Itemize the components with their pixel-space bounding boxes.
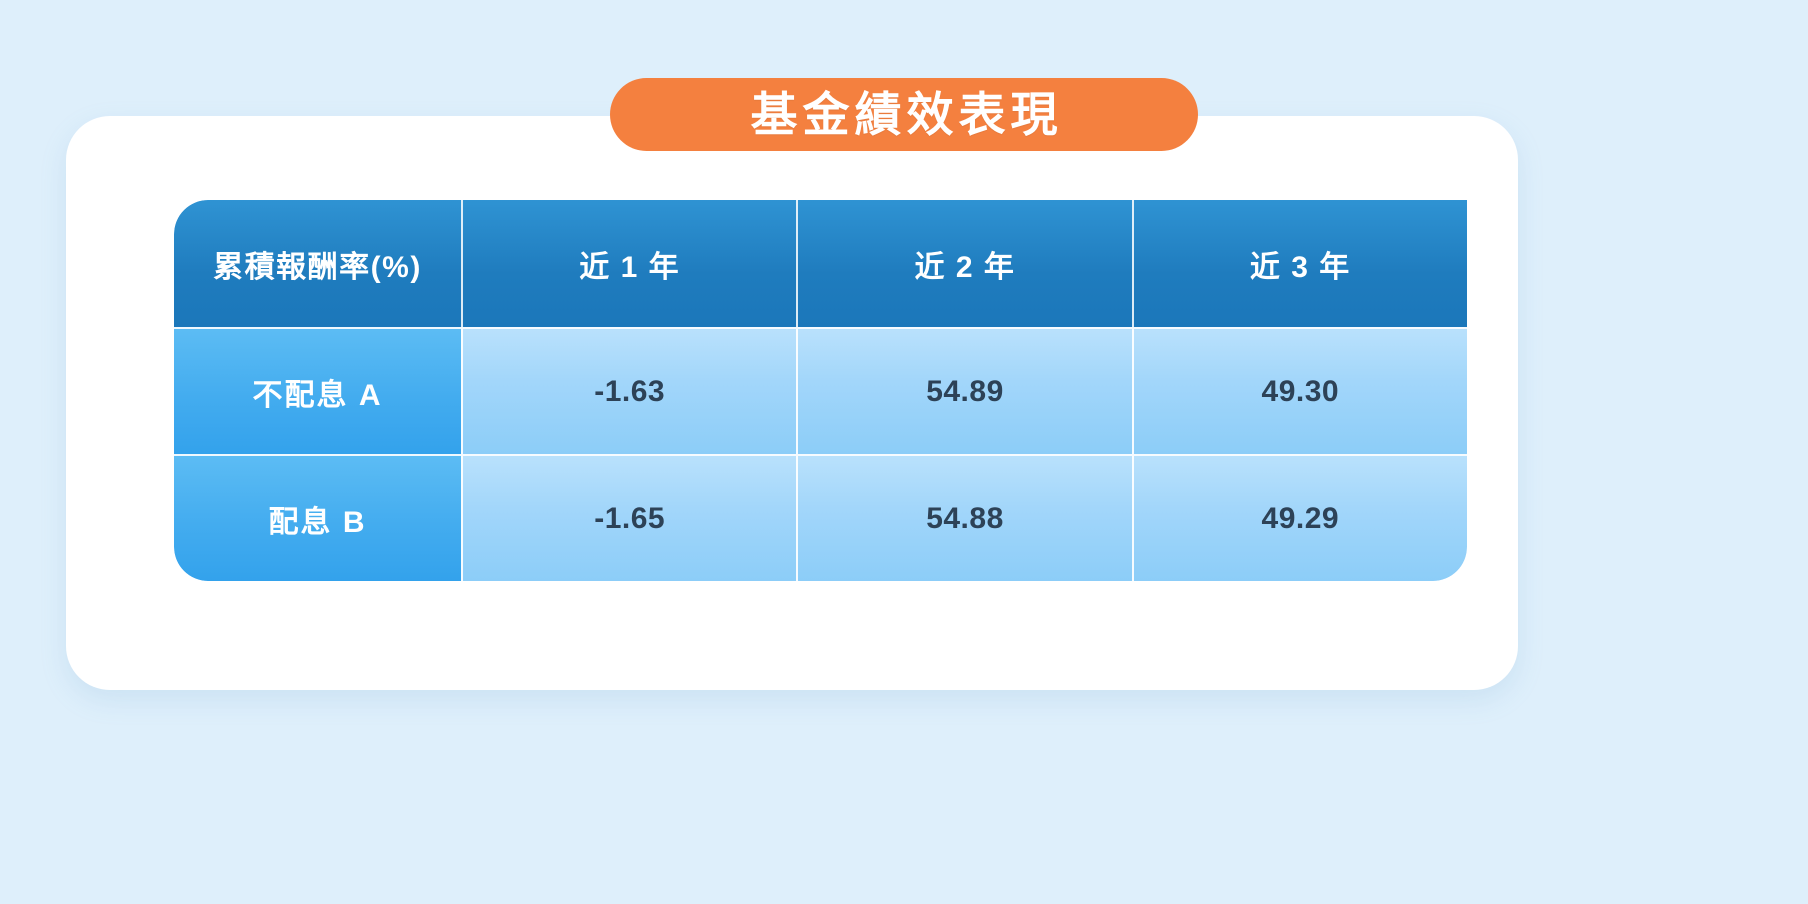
fund-performance-table: 累積報酬率(%) 近 1 年 近 2 年 近 3 年 不配息 A -1.63 5… xyxy=(174,200,1467,581)
column-header-year-2-label: 近 2 年 xyxy=(915,251,1016,284)
column-header-year-1: 近 1 年 xyxy=(461,200,796,327)
column-header-metric-label: 累積報酬率(%) xyxy=(213,251,422,284)
column-header-year-1-label: 近 1 年 xyxy=(579,251,680,284)
table-header-row: 累積報酬率(%) 近 1 年 近 2 年 近 3 年 xyxy=(174,200,1467,327)
column-header-year-2: 近 2 年 xyxy=(796,200,1131,327)
cell-dividend-b-year-3: 49.29 xyxy=(1132,454,1467,581)
table-header: 累積報酬率(%) 近 1 年 近 2 年 近 3 年 xyxy=(174,200,1467,327)
page-title: 基金績效表現 xyxy=(746,91,1063,138)
cell-no-dividend-a-year-2: 54.89 xyxy=(796,327,1131,454)
table-row: 配息 B -1.65 54.88 49.29 xyxy=(174,454,1467,581)
table-row: 不配息 A -1.63 54.89 49.30 xyxy=(174,327,1467,454)
page-background: 基金績效表現 累積報酬率(%) 近 1 年 近 2 年 近 3 年 xyxy=(0,0,1808,904)
cell-dividend-b-year-1: -1.65 xyxy=(461,454,796,581)
column-header-year-3-label: 近 3 年 xyxy=(1250,251,1351,284)
title-badge: 基金績效表現 xyxy=(610,78,1198,151)
row-label-no-dividend-a: 不配息 A xyxy=(174,327,461,454)
cell-no-dividend-a-year-3: 49.30 xyxy=(1132,327,1467,454)
row-label-dividend-b: 配息 B xyxy=(174,454,461,581)
column-header-metric: 累積報酬率(%) xyxy=(174,200,461,327)
cell-dividend-b-year-2: 54.88 xyxy=(796,454,1131,581)
table-body: 不配息 A -1.63 54.89 49.30 配息 B -1.65 54.88… xyxy=(174,327,1467,581)
column-header-year-3: 近 3 年 xyxy=(1132,200,1467,327)
cell-no-dividend-a-year-1: -1.63 xyxy=(461,327,796,454)
